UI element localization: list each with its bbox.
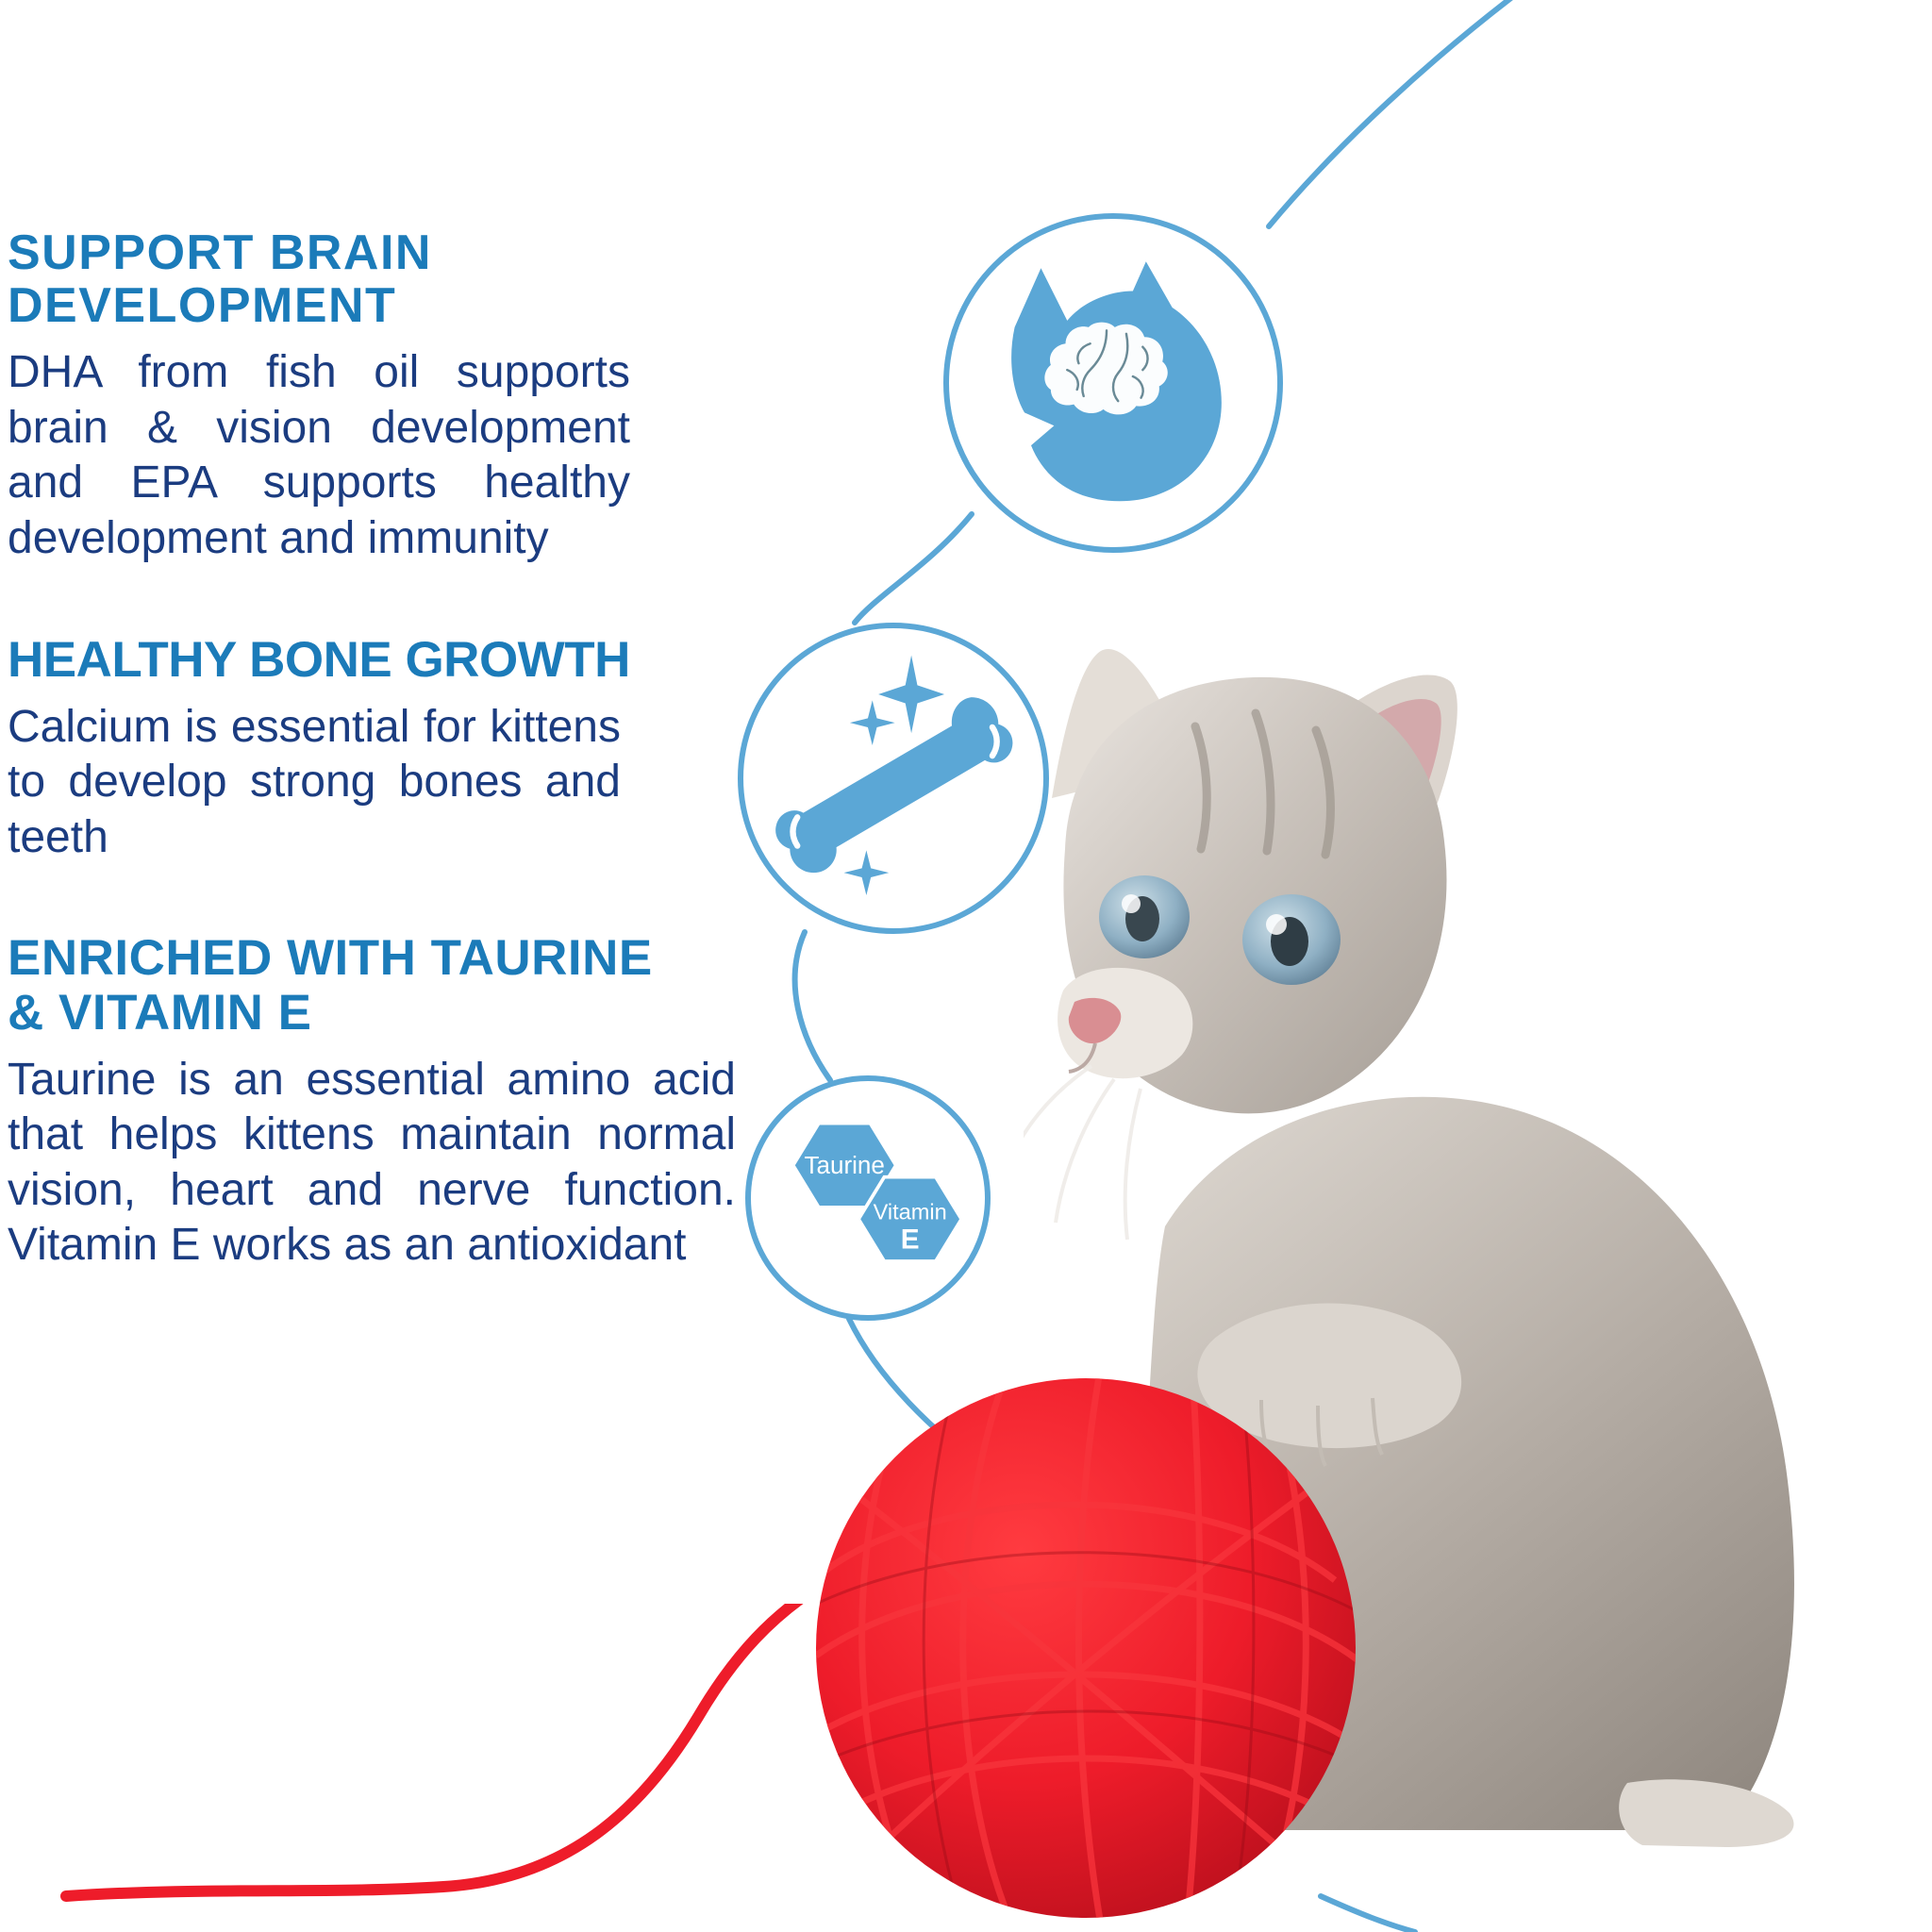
kitten-back-paw [1619,1779,1793,1847]
feature-heading-taurine: ENRICHED WITH TAURINE & VITAMIN E [8,931,753,1039]
hexagon-label-taurine: Taurine [805,1151,885,1179]
bone-shape [775,697,1012,873]
infographic-page: SUPPORT BRAIN DEVELOPMENT DHA from fish … [0,0,1932,1932]
feature-heading-bone: HEALTHY BONE GROWTH [8,633,753,687]
feature-block-taurine: ENRICHED WITH TAURINE & VITAMIN E Taurin… [8,931,753,1274]
feature-block-bone: HEALTHY BONE GROWTH Calcium is essential… [8,633,753,866]
feature-body-taurine: Taurine is an essential amino acid that … [8,1053,736,1274]
taurine-vitamin-e-hexagon-icon: Taurine Vitamin E [745,1075,991,1321]
cat-head-brain-icon [943,213,1283,553]
feature-text-column: SUPPORT BRAIN DEVELOPMENT DHA from fish … [8,226,753,1274]
bone-sparkle-icon [738,623,1049,934]
feature-body-bone: Calcium is essential for kittens to deve… [8,700,621,866]
feature-block-brain: SUPPORT BRAIN DEVELOPMENT DHA from fish … [8,226,753,567]
hexagon-label-vitamin: Vitamin [874,1199,947,1224]
connector-top [1269,0,1521,226]
kitten-eye-right [1242,894,1341,985]
yarn-ball [807,1373,1373,1929]
feature-heading-brain: SUPPORT BRAIN DEVELOPMENT [8,226,753,332]
connector-bone-to-hex [795,932,830,1080]
kitten-eye-left [1099,875,1190,958]
hexagon-label-e: E [901,1224,920,1255]
feature-body-brain: DHA from fish oil supports brain & visio… [8,345,630,566]
yarn-thread [38,1604,887,1932]
